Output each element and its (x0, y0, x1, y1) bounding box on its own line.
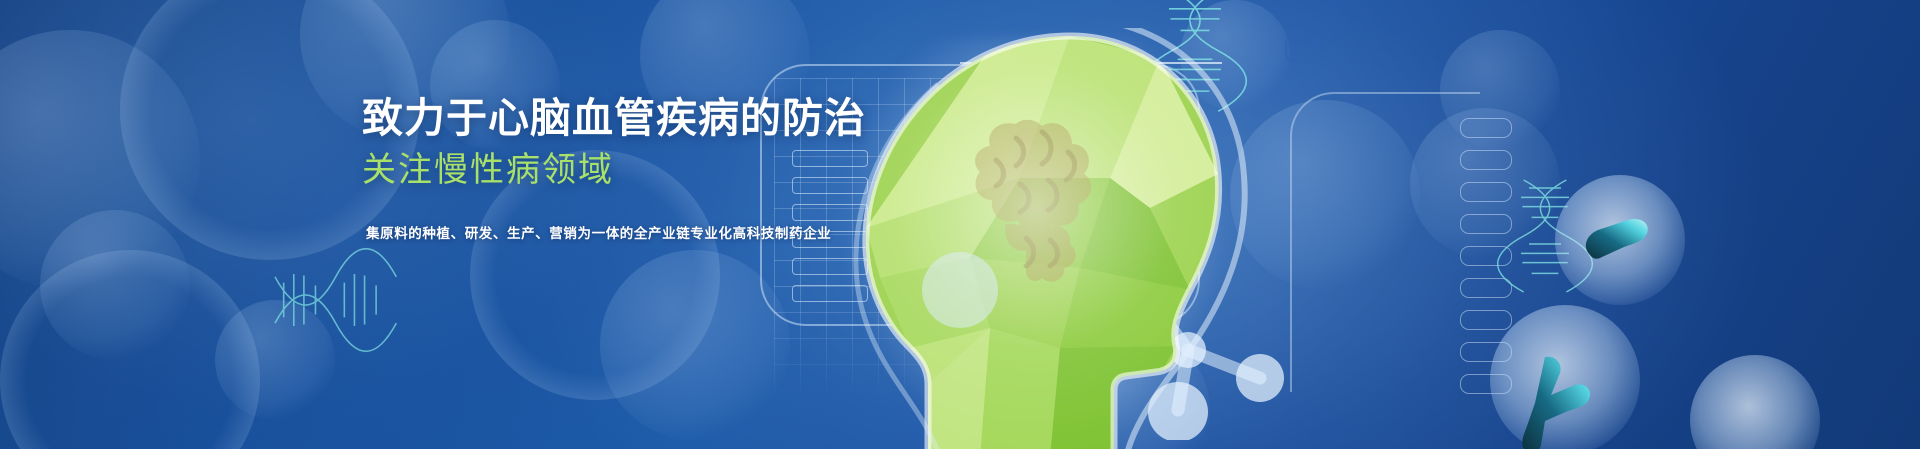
hud-right-bar (1460, 310, 1512, 330)
bokeh-ring (0, 250, 260, 449)
hud-right-bar (1460, 118, 1512, 138)
bokeh-circle (40, 210, 190, 360)
cell-membrane (1690, 355, 1820, 449)
page-title: 致力于心脑血管疾病的防治 (362, 96, 922, 142)
banner-copy: 致力于心脑血管疾病的防治 关注慢性病领域 集原料的种植、研发、生产、营销为一体的… (362, 96, 922, 242)
bacteria-fork-icon (1505, 355, 1600, 449)
page-tagline: 集原料的种植、研发、生产、营销为一体的全产业链专业化高科技制药企业 (366, 222, 922, 242)
dna-helix-icon (275, 255, 405, 345)
cell-blob-icon (1280, 30, 1320, 66)
hud-right-bar (1460, 150, 1512, 170)
page-subtitle: 关注慢性病领域 (362, 151, 922, 190)
bokeh-circle (0, 30, 200, 290)
bacillus-icon (1580, 215, 1660, 265)
hero-banner: 致力于心脑血管疾病的防治 关注慢性病领域 集原料的种植、研发、生产、营销为一体的… (0, 0, 1920, 449)
